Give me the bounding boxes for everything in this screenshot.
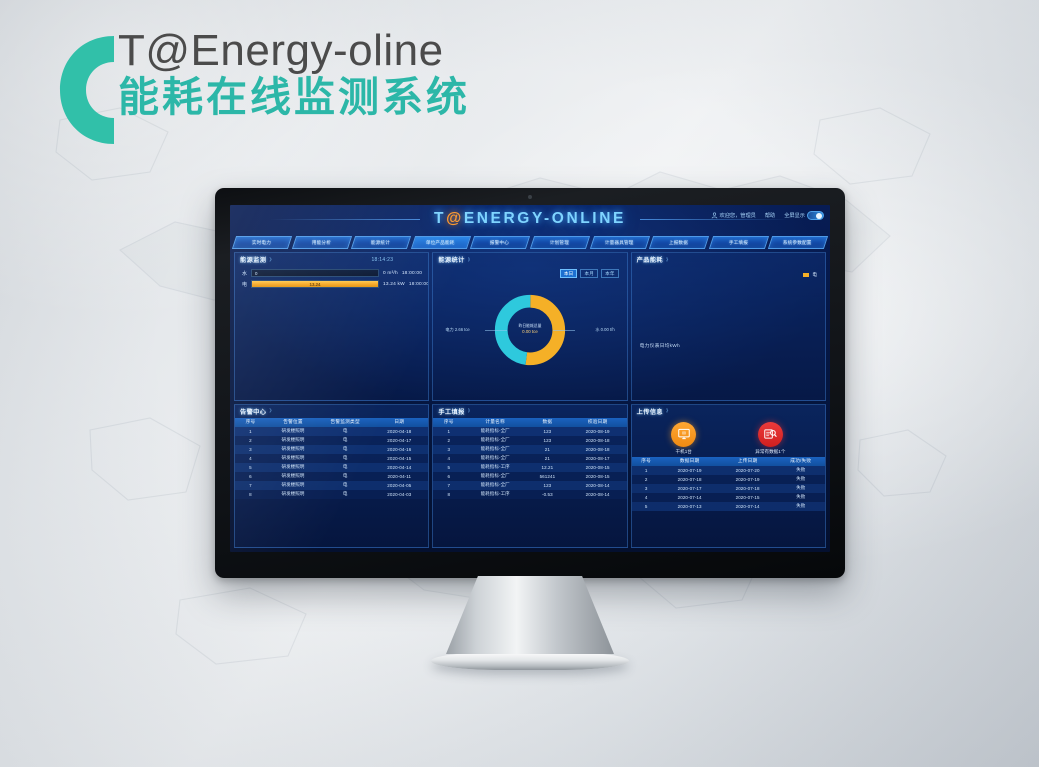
col-header: 计量名称 (464, 418, 526, 427)
table-row[interactable]: 3能耗指标-全厂212020-08-18 (433, 445, 626, 454)
cell: 123 (526, 481, 569, 490)
cell: 电 (320, 445, 370, 454)
cell: 5 (235, 463, 266, 472)
cell: 电 (320, 454, 370, 463)
help-menu[interactable]: 帮助 (765, 212, 775, 219)
poster-title-cn: 能耗在线监测系统 (118, 73, 470, 121)
doc-search-badge-icon (758, 422, 783, 447)
panel-header: 告警中心 》 (235, 405, 428, 418)
account-label: 欢迎您，管理员 (720, 212, 756, 219)
table-row[interactable]: 32020-07-172020-07-18失败 (632, 484, 825, 493)
panel-title: 手工填报 (438, 407, 464, 416)
nav-item-1[interactable]: 用能分析 (291, 236, 351, 249)
cell: 2020-07-19 (719, 475, 777, 484)
range-btn-month[interactable]: 本月 (580, 269, 598, 278)
doc-search-icon (763, 427, 777, 441)
panel-energy-stats: 能源统计 》 本日 本月 本年 (432, 252, 627, 401)
energy-bar-value: 0 (255, 271, 257, 276)
energy-reading: 13.24 kW (383, 282, 405, 287)
nav-label-9: 系统参数配置 (784, 240, 813, 246)
cell: 研发楼照明 (266, 481, 320, 490)
cell: 2020-08-17 (569, 454, 627, 463)
panel-body: I0I 干机1台 (632, 418, 825, 547)
table-row[interactable]: 12020-07-192020-07-20失败 (632, 466, 825, 475)
cell: 电 (320, 463, 370, 472)
cell: 2020-04-16 (370, 445, 428, 454)
fullscreen-label: 全屏显示 (784, 212, 805, 219)
cell: -0.53 (526, 490, 569, 499)
nav-label-6: 计量器具管理 (605, 240, 634, 246)
status-badge: 失败 (777, 484, 825, 493)
corner-tl (432, 404, 439, 411)
cell: 2020-07-14 (719, 502, 777, 511)
donut-leader-right (553, 330, 575, 331)
cell: 3 (235, 445, 266, 454)
badge-device[interactable]: I0I 干机1台 (671, 422, 696, 455)
cell: 研发楼照明 (266, 445, 320, 454)
table-row[interactable]: 5能耗指标-工序12.212020-08-15 (433, 463, 626, 472)
cell: 电 (320, 490, 370, 499)
cell: 2020-04-15 (370, 454, 428, 463)
nav-item-9[interactable]: 系统参数配置 (768, 236, 828, 249)
nav-item-5[interactable]: 计划管理 (530, 236, 590, 249)
cell: 4 (433, 454, 464, 463)
cell: 2020-08-15 (569, 472, 627, 481)
panel-title: 上传信息 (637, 407, 663, 416)
cell: 2020-08-18 (569, 436, 627, 445)
table-row[interactable]: 3研发楼照明电2020-04-16 (235, 445, 428, 454)
cell: 21 (526, 445, 569, 454)
cell: 123 (526, 436, 569, 445)
cell: 能耗指标-全厂 (464, 454, 526, 463)
monitor-stand-base (431, 652, 629, 670)
energy-row-water: 水 0 0 m³/h 18:00:00 (235, 266, 428, 277)
col-header: 上传日期 (719, 457, 777, 466)
table-row[interactable]: 5研发楼照明电2020-04-14 (235, 463, 428, 472)
monitor-badge-icon: I0I (671, 422, 696, 447)
donut-label-left: 电力 2.66 tce (445, 327, 469, 333)
nav-item-7[interactable]: 上报数据 (649, 236, 709, 249)
person-icon (711, 212, 718, 219)
panel-title: 能源统计 (438, 255, 464, 264)
corner-tr (621, 252, 628, 259)
manual-entry-table: 序号 计量名称 数据 校验日期 1能耗指标-全厂1232020-08-19 2能… (433, 418, 626, 499)
cell: 2020-04-11 (370, 472, 428, 481)
cell: 2020-04-18 (370, 427, 428, 436)
dashboard-header: T@ENERGY-ONLINE 欢迎您，管理员 帮助 全屏显示 (230, 205, 830, 235)
col-header: 告警位置 (266, 418, 320, 427)
nav-item-4[interactable]: 报警中心 (470, 236, 530, 249)
nav-label-0: 实时电力 (252, 240, 271, 246)
table-row[interactable]: 1能耗指标-全厂1232020-08-19 (433, 427, 626, 436)
badge-abnormal[interactable]: 异常有数据1个 (755, 422, 785, 455)
cell: 研发楼照明 (266, 427, 320, 436)
cell: 5 (632, 502, 661, 511)
nav-label-1: 用能分析 (312, 240, 331, 246)
energy-reading: 0 m³/h (383, 271, 398, 276)
monitor: T@ENERGY-ONLINE 欢迎您，管理员 帮助 全屏显示 (215, 188, 845, 670)
monitor-stand-neck (446, 576, 614, 654)
brand-at-icon: @ (446, 210, 464, 227)
nav-label-8: 手工填报 (729, 240, 748, 246)
corner-tr (621, 404, 628, 411)
svg-text:I0I: I0I (681, 431, 686, 436)
col-header: 序号 (433, 418, 464, 427)
cell: 研发楼照明 (266, 490, 320, 499)
cell: 2020-04-14 (370, 463, 428, 472)
cell: 2020-08-19 (569, 427, 627, 436)
panel-more-icon[interactable]: 》 (269, 257, 274, 263)
donut-center-caption: 昨日能耗总量 (519, 324, 542, 328)
panel-title: 告警中心 (240, 407, 266, 416)
badge-label: 干机1台 (671, 449, 696, 455)
cell: 能耗指标-全厂 (464, 481, 526, 490)
main-nav[interactable]: 实时电力 用能分析 能源统计 单位产品能耗 报警中心 计划管理 计量器具管理 上… (230, 236, 830, 249)
status-badge: 失败 (777, 466, 825, 475)
panel-header: 手工填报 》 (433, 405, 626, 418)
panel-body: 水 0 0 m³/h 18:00:00 电 (235, 266, 428, 400)
table-row[interactable]: 4研发楼照明电2020-04-15 (235, 454, 428, 463)
energy-bar-track: 0 (251, 269, 379, 277)
panel-energy-monitor: 能源监测 》 18:14:23 水 0 0 m³/h 18:00:00 (234, 252, 429, 401)
cell: 8 (433, 490, 464, 499)
cell: 21 (526, 454, 569, 463)
panel-product-energy: 产品能耗 》 电 电力仪表日均kWh (631, 252, 826, 401)
status-badge: 失败 (777, 493, 825, 502)
chart-legend: 电 (803, 272, 817, 278)
table-row[interactable]: 8能耗指标-工序-0.532020-08-14 (433, 490, 626, 499)
col-header: 序号 (235, 418, 266, 427)
user-area[interactable]: 欢迎您，管理员 帮助 全屏显示 (711, 211, 824, 220)
energy-row-label: 电 (242, 281, 247, 288)
panel-body: 序号 计量名称 数据 校验日期 1能耗指标-全厂1232020-08-19 2能… (433, 418, 626, 547)
cell: 2020-07-19 (661, 466, 719, 475)
table-row[interactable]: 22020-07-182020-07-19失败 (632, 475, 825, 484)
table-row[interactable]: 7能耗指标-全厂1232020-08-14 (433, 481, 626, 490)
nav-item-2[interactable]: 能源统计 (351, 236, 411, 249)
range-btn-day[interactable]: 本日 (560, 269, 578, 278)
nav-label-2: 能源统计 (371, 240, 390, 246)
cell: 2 (235, 436, 266, 445)
nav-label-7: 上报数据 (669, 240, 688, 246)
table-row[interactable]: 52020-07-132020-07-14失败 (632, 502, 825, 511)
legend-label: 电 (812, 272, 817, 278)
panel-title: 产品能耗 (637, 255, 663, 264)
range-toggle-group[interactable]: 本日 本月 本年 (560, 269, 619, 278)
table-row[interactable]: 6能耗指标-全厂5612412020-08-15 (433, 472, 626, 481)
cell: 2020-04-03 (370, 490, 428, 499)
panel-more-icon[interactable]: 》 (269, 408, 274, 414)
col-header: 告警监测类型 (320, 418, 370, 427)
cell: 2020-07-18 (719, 484, 777, 493)
monitor-bezel: T@ENERGY-ONLINE 欢迎您，管理员 帮助 全屏显示 (215, 188, 845, 578)
cell: 6 (235, 472, 266, 481)
cell: 4 (632, 493, 661, 502)
energy-bar-fill: 13.24 (252, 281, 378, 287)
corner-tl (631, 252, 638, 259)
cell: 2020-07-17 (661, 484, 719, 493)
dashboard-grid: 能源监测 》 18:14:23 水 0 0 m³/h 18:00:00 (234, 252, 826, 548)
nav-label-3: 单位产品能耗 (426, 240, 455, 246)
panel-header: 上传信息 》 (632, 405, 825, 418)
cell: 能耗指标-全厂 (464, 436, 526, 445)
cell: 研发楼照明 (266, 454, 320, 463)
cell: 2020-07-20 (719, 466, 777, 475)
panel-header: 产品能耗 》 (632, 253, 825, 266)
table-row[interactable]: 42020-07-142020-07-15失败 (632, 493, 825, 502)
cell: 561241 (526, 472, 569, 481)
cell: 3 (433, 445, 464, 454)
c-ring-logo-icon (56, 30, 118, 150)
corner-tl (234, 404, 241, 411)
corner-tr (422, 404, 429, 411)
brand-suffix: ENERGY-ONLINE (464, 210, 626, 227)
energy-time: 18:00:00 (409, 282, 429, 287)
corner-tl (631, 404, 638, 411)
table-row[interactable]: 8研发楼照明电2020-04-03 (235, 490, 428, 499)
table-header-row: 序号 计量名称 数据 校验日期 (433, 418, 626, 427)
cell: 研发楼照明 (266, 436, 320, 445)
panel-clock: 18:14:23 (371, 257, 393, 263)
panel-more-icon[interactable]: 》 (468, 257, 473, 263)
cell: 7 (235, 481, 266, 490)
cell: 电 (320, 427, 370, 436)
upload-table: 序号 数据日期 上传日期 成功/失败 12020-07-192020-07-20… (632, 457, 825, 511)
energy-time: 18:00:00 (402, 271, 422, 276)
energy-row-label: 水 (242, 270, 247, 277)
panel-body: 电 电力仪表日均kWh (632, 266, 825, 400)
alarm-table: 序号 告警位置 告警监测类型 日期 1研发楼照明电2020-04-18 2研发楼… (235, 418, 428, 499)
table-row[interactable]: 2研发楼照明电2020-04-17 (235, 436, 428, 445)
panel-more-icon[interactable]: 》 (666, 408, 671, 414)
nav-item-6[interactable]: 计量器具管理 (589, 236, 649, 249)
cell: 1 (632, 466, 661, 475)
brand-prefix: T (434, 210, 446, 227)
table-row[interactable]: 4能耗指标-全厂212020-08-17 (433, 454, 626, 463)
nav-item-8[interactable]: 手工填报 (709, 236, 769, 249)
poster-title-en: T@Energy-oline (118, 26, 470, 75)
cell: 电 (320, 481, 370, 490)
cell: 2 (433, 436, 464, 445)
corner-tr (422, 252, 429, 259)
cell: 2020-07-14 (661, 493, 719, 502)
energy-bar-value: 13.24 (310, 282, 321, 287)
cell: 123 (526, 427, 569, 436)
cell: 电 (320, 436, 370, 445)
nav-item-3[interactable]: 单位产品能耗 (411, 236, 471, 249)
cell: 8 (235, 490, 266, 499)
range-btn-year[interactable]: 本年 (601, 269, 619, 278)
table-row[interactable]: 1研发楼照明电2020-04-18 (235, 427, 428, 436)
cell: 能耗指标-工序 (464, 490, 526, 499)
panel-more-icon[interactable]: 》 (468, 408, 473, 414)
corner-tl (234, 252, 241, 259)
cell: 2020-04-05 (370, 481, 428, 490)
cell: 电 (320, 472, 370, 481)
corner-tr (819, 404, 826, 411)
cell: 2020-07-13 (661, 502, 719, 511)
cell: 研发楼照明 (266, 472, 320, 481)
cell: 1 (433, 427, 464, 436)
col-header: 成功/失败 (777, 457, 825, 466)
fullscreen-toggle-group[interactable]: 全屏显示 (784, 211, 824, 220)
energy-bar-track: 13.24 (251, 280, 379, 288)
panel-header: 能源监测 》 18:14:23 (235, 253, 428, 266)
cell: 12.21 (526, 463, 569, 472)
cell: 1 (235, 427, 266, 436)
nav-label-5: 计划管理 (550, 240, 569, 246)
table-row[interactable]: 6研发楼照明电2020-04-11 (235, 472, 428, 481)
cell: 2020-08-14 (569, 481, 627, 490)
status-badge: 失败 (777, 475, 825, 484)
energy-row-electric: 电 13.24 13.24 kW 18:00:00 (235, 277, 428, 288)
upload-badges: I0I 干机1台 (632, 418, 825, 457)
col-header: 序号 (632, 457, 661, 466)
cell: 6 (433, 472, 464, 481)
status-badge: 失败 (777, 502, 825, 511)
nav-item-0[interactable]: 实时电力 (232, 236, 292, 249)
legend-swatch-icon (803, 273, 809, 277)
col-header: 数据 (526, 418, 569, 427)
donut-leader-left (485, 330, 507, 331)
nav-label-4: 报警中心 (491, 240, 510, 246)
col-header: 校验日期 (569, 418, 627, 427)
panel-alarm-center: 告警中心 》 序号 告警位置 告警监测类型 日期 1研发 (234, 404, 429, 548)
fullscreen-toggle-switch[interactable] (807, 211, 824, 220)
cell: 能耗指标-全厂 (464, 427, 526, 436)
corner-tl (432, 252, 439, 259)
cell: 2020-08-14 (569, 490, 627, 499)
panel-manual-entry: 手工填报 》 序号 计量名称 数据 校验日期 1能耗指标 (432, 404, 627, 548)
cell: 4 (235, 454, 266, 463)
cell: 能耗指标-全厂 (464, 445, 526, 454)
panel-upload-info: 上传信息 》 I0I (631, 404, 826, 548)
product-energy-note: 电力仪表日均kWh (640, 342, 680, 349)
dashboard-screen: T@ENERGY-ONLINE 欢迎您，管理员 帮助 全屏显示 (230, 205, 830, 552)
help-label: 帮助 (765, 212, 775, 219)
cell: 7 (433, 481, 464, 490)
cell: 2020-08-18 (569, 445, 627, 454)
monitor-icon: I0I (677, 427, 691, 441)
panel-body: 本日 本月 本年 昨日能耗总量 (433, 266, 626, 400)
cell: 2020-07-15 (719, 493, 777, 502)
cell: 2 (632, 475, 661, 484)
cell: 3 (632, 484, 661, 493)
table-header-row: 序号 数据日期 上传日期 成功/失败 (632, 457, 825, 466)
account-menu[interactable]: 欢迎您，管理员 (711, 212, 756, 219)
cell: 2020-08-15 (569, 463, 627, 472)
cell: 2020-07-18 (661, 475, 719, 484)
col-header: 日期 (370, 418, 428, 427)
cell: 能耗指标-工序 (464, 463, 526, 472)
poster-title-block: T@Energy-oline 能耗在线监测系统 (56, 26, 470, 122)
table-row[interactable]: 2能耗指标-全厂1232020-08-18 (433, 436, 626, 445)
col-header: 数据日期 (661, 457, 719, 466)
cell: 能耗指标-全厂 (464, 472, 526, 481)
panel-header: 能源统计 》 (433, 253, 626, 266)
corner-tr (819, 252, 826, 259)
panel-body: 序号 告警位置 告警监测类型 日期 1研发楼照明电2020-04-18 2研发楼… (235, 418, 428, 547)
donut-label-right: 水 0.00 t/h (595, 327, 614, 333)
panel-title: 能源监测 (240, 255, 266, 264)
badge-label: 异常有数据1个 (755, 449, 785, 455)
panel-more-icon[interactable]: 》 (666, 257, 671, 263)
table-header-row: 序号 告警位置 告警监测类型 日期 (235, 418, 428, 427)
cell: 研发楼照明 (266, 463, 320, 472)
cell: 5 (433, 463, 464, 472)
cell: 2020-04-17 (370, 436, 428, 445)
table-row[interactable]: 7研发楼照明电2020-04-05 (235, 481, 428, 490)
